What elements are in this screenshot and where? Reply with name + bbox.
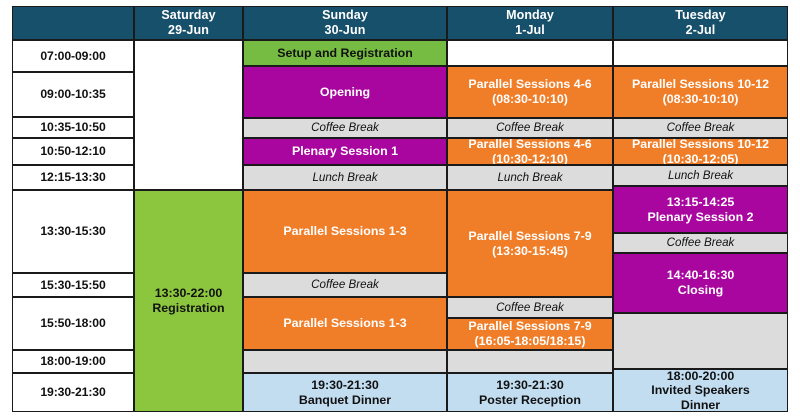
tuesday-dinner-label-1: Invited Speakers xyxy=(651,383,749,397)
time-label: 10:50-12:10 xyxy=(13,144,133,158)
time-slot-1215-1330: 12:15-13:30 xyxy=(12,165,134,190)
header-sunday: Sunday 30-Jun xyxy=(243,6,447,40)
monday-parallel-sessions-7-9-second: Parallel Sessions 7-9 (16:05-18:05/18:15… xyxy=(447,318,613,350)
time-slot-1035-1050: 10:35-10:50 xyxy=(12,117,134,138)
monday-coffee-break-afternoon: Coffee Break xyxy=(447,297,613,318)
saturday-empty-morning xyxy=(134,40,243,190)
sunday-opening-label: Opening xyxy=(244,85,446,100)
sunday-setup-registration: Setup and Registration xyxy=(243,40,447,66)
time-label: 18:00-19:00 xyxy=(13,354,133,368)
header-saturday-day: Saturday xyxy=(161,8,215,22)
monday-poster-time: 19:30-21:30 xyxy=(496,378,564,392)
monday-poster-reception: 19:30-21:30 Poster Reception xyxy=(447,373,613,412)
monday-parallel-7-9-a-label: Parallel Sessions 7-9 xyxy=(468,229,591,243)
tuesday-closing-label: Closing xyxy=(678,283,723,297)
time-slot-1530-1550: 15:30-15:50 xyxy=(12,273,134,297)
time-label: 09:00-10:35 xyxy=(13,87,133,101)
monday-parallel-7-9-b-time: (16:05-18:05/18:15) xyxy=(475,334,586,348)
sunday-coffee-break-2-label: Coffee Break xyxy=(244,278,446,292)
header-tuesday-day: Tuesday xyxy=(675,8,726,22)
time-slot-0900-1035: 09:00-10:35 xyxy=(12,72,134,117)
monday-parallel-sessions-4-6-first: Parallel Sessions 4-6 (08:30-10:10) xyxy=(447,66,613,118)
tuesday-lunch-break-label: Lunch Break xyxy=(614,169,787,183)
sunday-parallel-1-3-a-label: Parallel Sessions 1-3 xyxy=(244,224,446,239)
tuesday-invited-speakers-dinner: 18:00-20:00 Invited Speakers Dinner xyxy=(613,369,788,412)
time-slot-1050-1210: 10:50-12:10 xyxy=(12,138,134,165)
header-tuesday: Tuesday 2-Jul xyxy=(613,6,788,40)
sunday-opening: Opening xyxy=(243,66,447,118)
monday-poster-label: Poster Reception xyxy=(479,393,581,407)
time-label: 13:30-15:30 xyxy=(13,224,133,238)
time-slot-1550-1800: 15:50-18:00 xyxy=(12,297,134,350)
sunday-parallel-sessions-1-3-first: Parallel Sessions 1-3 xyxy=(243,190,447,273)
header-monday-day: Monday xyxy=(506,8,554,22)
monday-empty-early xyxy=(447,40,613,66)
sunday-parallel-sessions-1-3-second: Parallel Sessions 1-3 xyxy=(243,297,447,350)
time-label: 15:50-18:00 xyxy=(13,316,133,330)
sunday-coffee-break-label: Coffee Break xyxy=(244,121,446,135)
monday-coffee-break-label: Coffee Break xyxy=(448,121,612,135)
sunday-free-slot-evening xyxy=(243,350,447,373)
time-label: 15:30-15:50 xyxy=(13,278,133,292)
monday-lunch-break: Lunch Break xyxy=(447,165,613,190)
tuesday-coffee-break-2-label: Coffee Break xyxy=(614,236,787,250)
time-slot-0700-0900: 07:00-09:00 xyxy=(12,40,134,72)
tuesday-coffee-break-afternoon: Coffee Break xyxy=(613,233,788,253)
tuesday-parallel-sessions-10-12-first: Parallel Sessions 10-12 (08:30-10:10) xyxy=(613,66,788,118)
monday-parallel-sessions-4-6-second: Parallel Sessions 4-6 (10:30-12:10) xyxy=(447,138,613,165)
sunday-setup-label: Setup and Registration xyxy=(244,46,446,61)
sunday-parallel-1-3-b-label: Parallel Sessions 1-3 xyxy=(244,316,446,331)
monday-free-slot-evening xyxy=(447,350,613,373)
time-label: 07:00-09:00 xyxy=(13,49,133,63)
header-corner-cell xyxy=(12,6,134,40)
header-monday: Monday 1-Jul xyxy=(447,6,613,40)
tuesday-free-slot-late-afternoon xyxy=(613,313,788,369)
sunday-banquet-time: 19:30-21:30 xyxy=(311,378,379,392)
sunday-coffee-break-afternoon: Coffee Break xyxy=(243,273,447,297)
sunday-plenary1-label: Plenary Session 1 xyxy=(244,144,446,159)
tuesday-parallel-10-12-a-label: Parallel Sessions 10-12 xyxy=(632,77,769,91)
tuesday-dinner-time: 18:00-20:00 xyxy=(667,369,735,383)
time-slot-1930-2130: 19:30-21:30 xyxy=(12,373,134,412)
tuesday-parallel-sessions-10-12-second: Parallel Sessions 10-12 (10:30-12:05) xyxy=(613,138,788,165)
header-saturday: Saturday 29-Jun xyxy=(134,6,243,40)
sunday-coffee-break-morning: Coffee Break xyxy=(243,118,447,138)
sunday-lunch-break-label: Lunch Break xyxy=(244,171,446,185)
time-slot-1330-1530: 13:30-15:30 xyxy=(12,190,134,273)
saturday-registration: 13:30-22:00 Registration xyxy=(134,190,243,412)
monday-parallel-7-9-a-time: (13:30-15:45) xyxy=(492,244,568,258)
tuesday-plenary2-time: 13:15-14:25 xyxy=(667,195,735,209)
tuesday-parallel-10-12-b-time: (10:30-12:05) xyxy=(663,152,739,166)
saturday-registration-label: Registration xyxy=(152,301,224,315)
header-saturday-date: 29-Jun xyxy=(168,23,209,37)
sunday-lunch-break: Lunch Break xyxy=(243,165,447,190)
time-label: 12:15-13:30 xyxy=(13,170,133,184)
tuesday-dinner-label-2: Dinner xyxy=(681,398,720,412)
tuesday-closing-time: 14:40-16:30 xyxy=(667,268,735,282)
monday-parallel-4-6-a-label: Parallel Sessions 4-6 xyxy=(468,77,591,91)
sunday-plenary-session-1: Plenary Session 1 xyxy=(243,138,447,165)
time-label: 19:30-21:30 xyxy=(13,385,133,399)
tuesday-coffee-break-label: Coffee Break xyxy=(614,121,787,135)
monday-parallel-4-6-b-time: (10:30-12:10) xyxy=(492,152,568,166)
tuesday-empty-early xyxy=(613,40,788,66)
tuesday-plenary-session-2: 13:15-14:25 Plenary Session 2 xyxy=(613,186,788,233)
header-sunday-date: 30-Jun xyxy=(325,23,366,37)
header-monday-date: 1-Jul xyxy=(515,23,545,37)
monday-coffee-break-2-label: Coffee Break xyxy=(448,301,612,315)
sunday-banquet-dinner: 19:30-21:30 Banquet Dinner xyxy=(243,373,447,412)
time-slot-1800-1900: 18:00-19:00 xyxy=(12,350,134,373)
tuesday-lunch-break: Lunch Break xyxy=(613,165,788,186)
time-label: 10:35-10:50 xyxy=(13,120,133,134)
monday-parallel-7-9-b-label: Parallel Sessions 7-9 xyxy=(468,319,591,333)
sunday-banquet-label: Banquet Dinner xyxy=(299,393,391,407)
monday-coffee-break-morning: Coffee Break xyxy=(447,118,613,138)
monday-parallel-4-6-a-time: (08:30-10:10) xyxy=(492,92,568,106)
monday-parallel-sessions-7-9-first: Parallel Sessions 7-9 (13:30-15:45) xyxy=(447,190,613,297)
tuesday-plenary2-label: Plenary Session 2 xyxy=(647,210,753,224)
tuesday-closing: 14:40-16:30 Closing xyxy=(613,253,788,313)
tuesday-parallel-10-12-a-time: (08:30-10:10) xyxy=(663,92,739,106)
tuesday-coffee-break-morning: Coffee Break xyxy=(613,118,788,138)
conference-schedule-table: Saturday 29-Jun Sunday 30-Jun Monday 1-J… xyxy=(0,0,800,420)
saturday-registration-time: 13:30-22:00 xyxy=(155,286,223,300)
header-sunday-day: Sunday xyxy=(322,8,368,22)
tuesday-parallel-10-12-b-label: Parallel Sessions 10-12 xyxy=(632,138,769,151)
monday-lunch-break-label: Lunch Break xyxy=(448,171,612,185)
header-tuesday-date: 2-Jul xyxy=(686,23,716,37)
monday-parallel-4-6-b-label: Parallel Sessions 4-6 xyxy=(468,138,591,151)
